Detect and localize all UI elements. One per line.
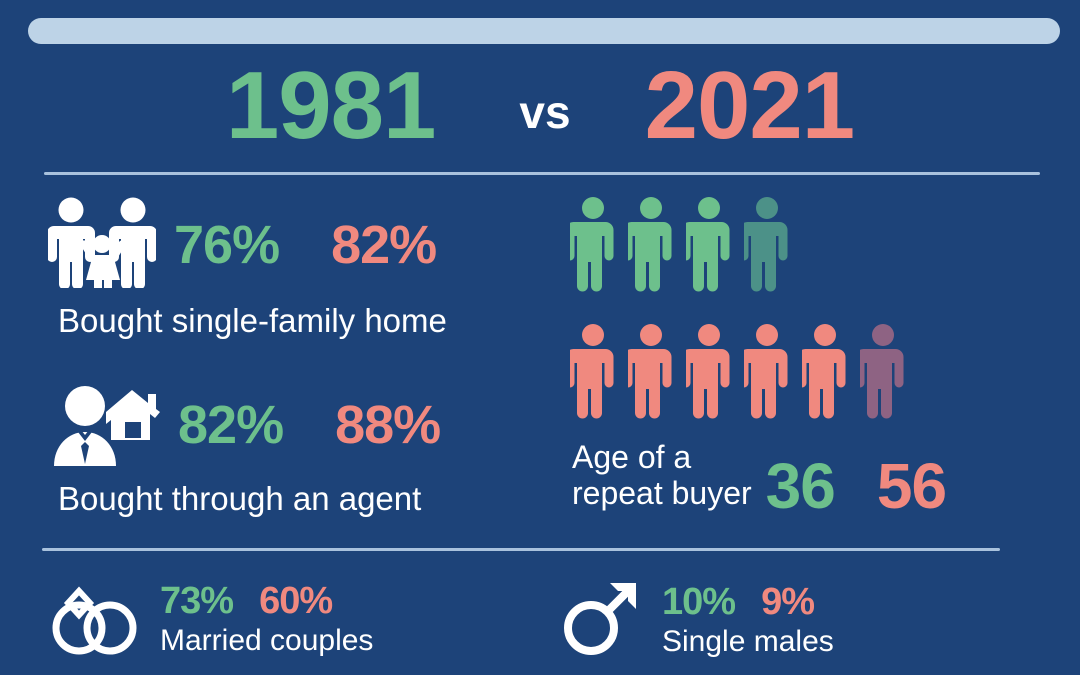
age-1981: 36 (766, 454, 835, 518)
stat-text-column: 10% 9% Single males (662, 583, 834, 658)
divider-top (44, 172, 1040, 175)
person-figure-partial (744, 196, 790, 305)
stat-row: 76% 82% (48, 196, 447, 293)
person-figure (570, 323, 616, 432)
family-icon (48, 196, 156, 293)
person-figure (628, 196, 674, 305)
stat-values: 73% 60% (160, 582, 373, 620)
agent-house-icon (48, 378, 160, 471)
divider-bottom (42, 548, 1000, 551)
value-2021: 9% (761, 583, 814, 621)
stat-caption: Bought through an agent (58, 481, 440, 517)
value-2021: 88% (335, 398, 440, 452)
value-1981: 82% (178, 398, 283, 452)
male-symbol-icon (560, 578, 644, 663)
person-figure-partial (860, 323, 906, 432)
stat-caption: Married couples (160, 624, 373, 657)
age-2021: 56 (877, 454, 946, 518)
year-1981: 1981 (226, 58, 436, 154)
age-values: 36 56 (766, 454, 946, 518)
person-figure (628, 323, 674, 432)
value-2021: 60% (259, 582, 332, 620)
stat-values: 76% 82% (174, 218, 436, 272)
infographic-canvas: 1981 vs 2021 (0, 0, 1080, 675)
vs-label: vs (519, 89, 570, 135)
stat-values: 82% 88% (178, 398, 440, 452)
stat-caption: Bought single-family home (58, 303, 447, 339)
age-label: Age of a repeat buyer (572, 440, 752, 512)
stat-married-couples: 73% 60% Married couples (46, 578, 373, 661)
value-1981: 76% (174, 218, 279, 272)
stat-row: 73% 60% Married couples (46, 578, 373, 661)
headline: 1981 vs 2021 (0, 56, 1080, 156)
stat-text-column: 73% 60% Married couples (160, 582, 373, 657)
stat-single-males: 10% 9% Single males (560, 578, 834, 663)
stat-caption: Single males (662, 625, 834, 658)
person-figure (686, 323, 732, 432)
value-1981: 10% (662, 583, 735, 621)
stat-values: 10% 9% (662, 583, 834, 621)
stat-row: 10% 9% Single males (560, 578, 834, 663)
value-1981: 73% (160, 582, 233, 620)
pictogram-row-1981 (570, 196, 906, 305)
value-2021: 82% (331, 218, 436, 272)
stat-single-family-home: 76% 82% Bought single-family home (48, 196, 447, 339)
wedding-rings-icon (46, 578, 142, 661)
age-of-repeat-buyer: Age of a repeat buyer 36 56 (572, 440, 946, 512)
person-figure (802, 323, 848, 432)
person-figure (686, 196, 732, 305)
stat-through-an-agent: 82% 88% Bought through an agent (48, 378, 440, 517)
year-2021: 2021 (645, 58, 855, 154)
person-figure (744, 323, 790, 432)
top-accent-bar (28, 18, 1060, 44)
person-figure (570, 196, 616, 305)
pictogram-row-2021 (570, 323, 906, 432)
age-pictogram-panel (570, 196, 906, 432)
stat-row: 82% 88% (48, 378, 440, 471)
